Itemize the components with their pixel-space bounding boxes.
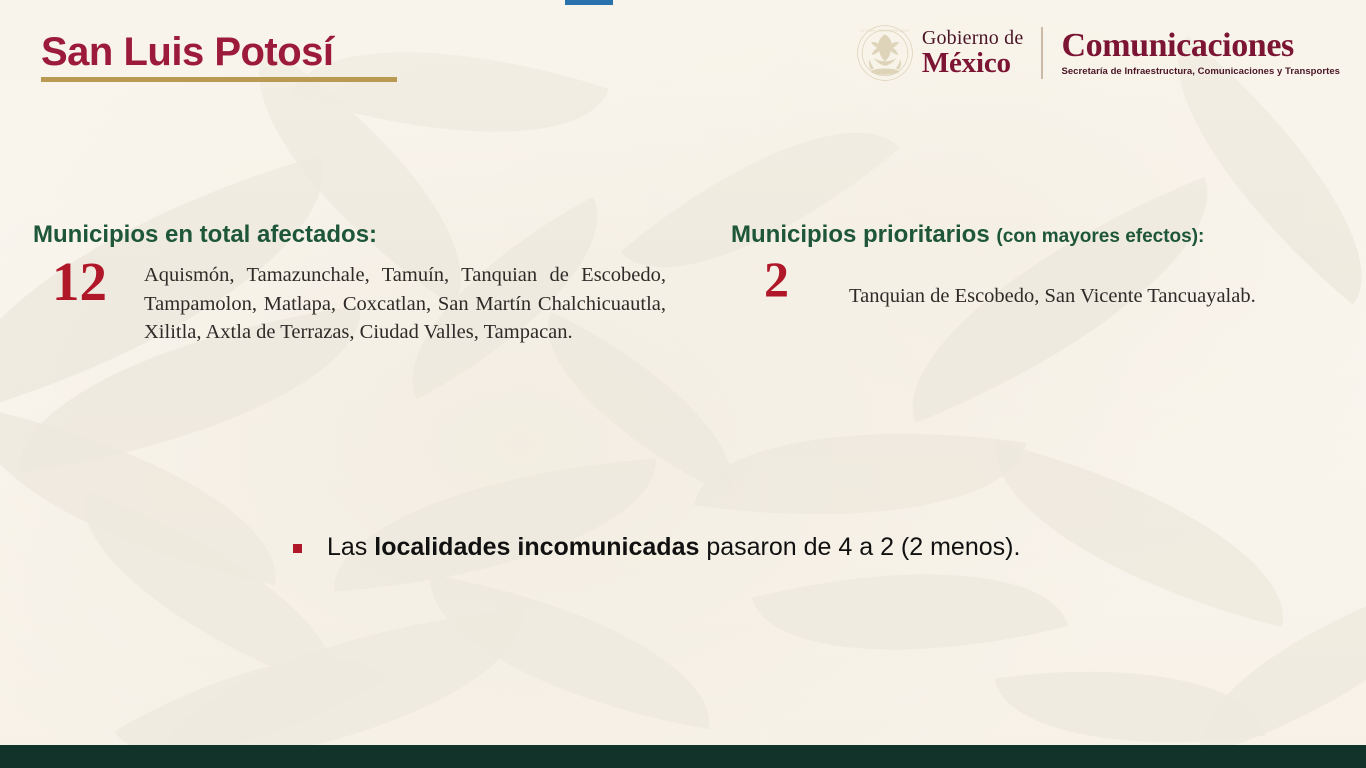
background-petal: [0, 407, 298, 585]
background-base: [0, 0, 1366, 768]
presentation-slide: San Luis Potosí ESTADOS UNIDOS MEXICANOS…: [0, 0, 1366, 768]
mexican-coat-of-arms-icon: ESTADOS UNIDOS MEXICANOS: [854, 24, 916, 82]
background-pattern: [0, 0, 1366, 768]
column-total-municipios: Municipios en total afectados: 12 Aquism…: [33, 222, 673, 346]
bullet-item: Las localidades incomunicadas pasaron de…: [293, 532, 1020, 563]
footer-bar: [0, 745, 1366, 768]
svg-text:ESTADOS UNIDOS MEXICANOS: ESTADOS UNIDOS MEXICANOS: [860, 28, 909, 32]
background-petal: [971, 443, 1308, 627]
left-count-value: 12: [33, 256, 144, 308]
background-petal: [291, 0, 608, 188]
bullet-bold: localidades incomunicadas: [374, 533, 699, 561]
right-heading-main: Municipios prioritarios: [731, 221, 990, 248]
right-column-body: 2 Tanquian de Escobedo, San Vicente Tanc…: [731, 256, 1341, 310]
bullet-text: Las localidades incomunicadas pasaron de…: [327, 532, 1020, 563]
logo-divider: [1041, 27, 1043, 79]
dependency-wordmark: Comunicaciones Secretaría de Infraestruc…: [1061, 29, 1340, 77]
background-wash: [0, 0, 1366, 768]
bullet-square-icon: [293, 544, 302, 553]
right-count-value: 2: [731, 256, 849, 304]
right-column-heading: Municipios prioritarios (con mayores efe…: [731, 222, 1341, 248]
right-heading-sub: (con mayores efectos):: [996, 226, 1204, 247]
left-column-body: 12 Aquismón, Tamazunchale, Tamuín, Tanqu…: [33, 256, 673, 346]
background-petal: [327, 459, 664, 592]
bullet-prefix: Las: [327, 533, 374, 561]
gobierno-line1: Gobierno de: [922, 28, 1024, 48]
dependency-name: Comunicaciones: [1061, 29, 1340, 63]
bullet-suffix: pasaron de 4 a 2 (2 menos).: [699, 533, 1020, 561]
gobierno-line2: México: [922, 49, 1024, 78]
dependency-subtitle: Secretaría de Infraestructura, Comunicac…: [1061, 67, 1340, 77]
title-underline: [41, 77, 397, 82]
left-municipios-list: Aquismón, Tamazunchale, Tamuín, Tanquian…: [144, 256, 666, 346]
gobierno-de-mexico-wordmark: Gobierno de México: [922, 28, 1024, 78]
background-petal: [114, 601, 385, 768]
top-progress-marker: [565, 0, 613, 5]
page-title: San Luis Potosí: [41, 32, 334, 72]
background-petal: [694, 398, 1026, 549]
column-municipios-prioritarios: Municipios prioritarios (con mayores efe…: [731, 222, 1341, 311]
government-logo: ESTADOS UNIDOS MEXICANOS Gobierno de Méx…: [854, 22, 1340, 84]
background-petal: [413, 575, 727, 730]
background-petal: [51, 492, 368, 692]
left-column-heading: Municipios en total afectados:: [33, 222, 673, 248]
background-petal: [1172, 579, 1366, 757]
right-municipios-list: Tanquian de Escobedo, San Vicente Tancua…: [849, 256, 1341, 310]
